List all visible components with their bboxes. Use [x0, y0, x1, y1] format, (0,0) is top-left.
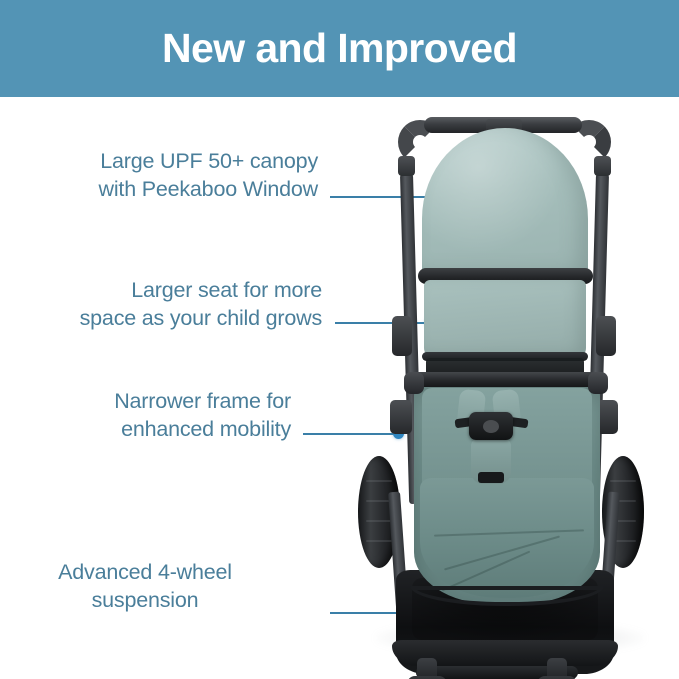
callout-label-frame: Narrower frame for enhanced mobility [0, 388, 291, 443]
bumper-bar-joint-left [404, 372, 424, 394]
canopy-second-panel [424, 280, 586, 358]
page-title: New and Improved [162, 28, 517, 69]
callout-suspension-line1: Advanced 4-wheel [0, 559, 290, 587]
canopy-top-panel [422, 128, 588, 278]
harness-buckle-button [483, 420, 499, 433]
seat-cushion [420, 478, 594, 598]
infographic-page: New and Improved Large UPF 50+ canopy wi… [0, 0, 679, 679]
callout-frame-line1: Narrower frame for [0, 388, 291, 416]
harness-crotch-buckle [478, 472, 504, 483]
frame-hinge-left-upper [392, 316, 412, 356]
callout-canopy-line1: Large UPF 50+ canopy [0, 148, 318, 176]
bumper-bar [410, 372, 602, 387]
callout-frame-line2: enhanced mobility [0, 416, 291, 444]
callout-label-suspension: Advanced 4-wheel suspension [0, 559, 290, 614]
callout-seat-line2: space as your child grows [0, 305, 322, 333]
stroller-product-image [330, 100, 679, 679]
bumper-bar-joint-right [588, 372, 608, 394]
frame-hinge-left-mid [390, 400, 412, 434]
callout-suspension-line2: suspension [0, 587, 290, 615]
handlebar-joint-left [398, 156, 415, 176]
handlebar-joint-right [594, 156, 611, 176]
callout-canopy-line2: with Peekaboo Window [0, 176, 318, 204]
callout-label-seat: Larger seat for more space as your child… [0, 277, 322, 332]
frame-hinge-right-upper [596, 316, 616, 356]
header-banner: New and Improved [0, 0, 679, 97]
callout-seat-line1: Larger seat for more [0, 277, 322, 305]
callout-label-canopy: Large UPF 50+ canopy with Peekaboo Windo… [0, 148, 318, 203]
